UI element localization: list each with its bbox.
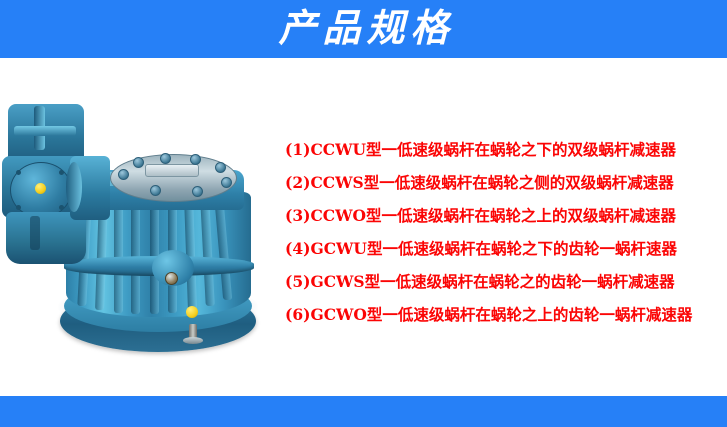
worm-foot-slot xyxy=(30,216,40,250)
gearbox-illustration xyxy=(0,92,278,362)
cover-bolt xyxy=(190,154,201,165)
coupling-ring xyxy=(66,162,82,212)
cooling-fin xyxy=(131,194,140,314)
inspection-cover-plate xyxy=(110,154,237,202)
cover-bolt xyxy=(215,162,226,173)
worm-cap-bolt xyxy=(59,170,64,175)
cover-bolt xyxy=(150,185,161,196)
spec-list: (1)CCWU型一低速级蜗杆在蜗轮之下的双级蜗杆减速器 (2)CCWS型一低速级… xyxy=(285,133,727,331)
worm-yellow-plug xyxy=(35,183,46,194)
spec-item-4: (4)GCWU型一低速级蜗杆在蜗轮之下的齿轮一蜗杆速器 xyxy=(285,232,727,265)
page-title: 产品规格 xyxy=(0,0,727,58)
yellow-oil-plug xyxy=(186,306,198,318)
spec-item-2: (2)CCWS型一低速级蜗杆在蜗轮之侧的双级蜗杆减速器 xyxy=(285,166,727,199)
product-spec-page: 产品规格 xyxy=(0,0,727,427)
cover-bolt xyxy=(118,169,129,180)
spec-item-1: (1)CCWU型一低速级蜗杆在蜗轮之下的双级蜗杆减速器 xyxy=(285,133,727,166)
worm-cap-bolt xyxy=(16,205,21,210)
spec-item-3: (3)CCWO型一低速级蜗杆在蜗轮之上的双级蜗杆减速器 xyxy=(285,199,727,232)
cover-bolt xyxy=(160,153,171,164)
top-banner: 产品规格 xyxy=(0,0,727,58)
bottom-banner xyxy=(0,396,727,427)
drain-washer xyxy=(183,337,203,344)
product-photo xyxy=(0,92,278,362)
cover-slot xyxy=(145,164,199,177)
spec-item-6: (6)GCWO型一低速级蜗杆在蜗轮之上的齿轮一蜗杆减速器 xyxy=(285,298,727,331)
cover-bolt xyxy=(221,177,232,188)
port-screw xyxy=(165,272,178,285)
cooling-fin xyxy=(114,195,123,313)
worm-top-crossrib xyxy=(14,126,76,136)
spec-item-5: (5)GCWS型一低速级蜗杆在蜗轮之的齿轮一蜗杆减速器 xyxy=(285,265,727,298)
worm-cap-bolt xyxy=(59,205,64,210)
cover-bolt xyxy=(133,157,144,168)
worm-cap-bolt xyxy=(16,170,21,175)
cover-bolt xyxy=(192,186,203,197)
